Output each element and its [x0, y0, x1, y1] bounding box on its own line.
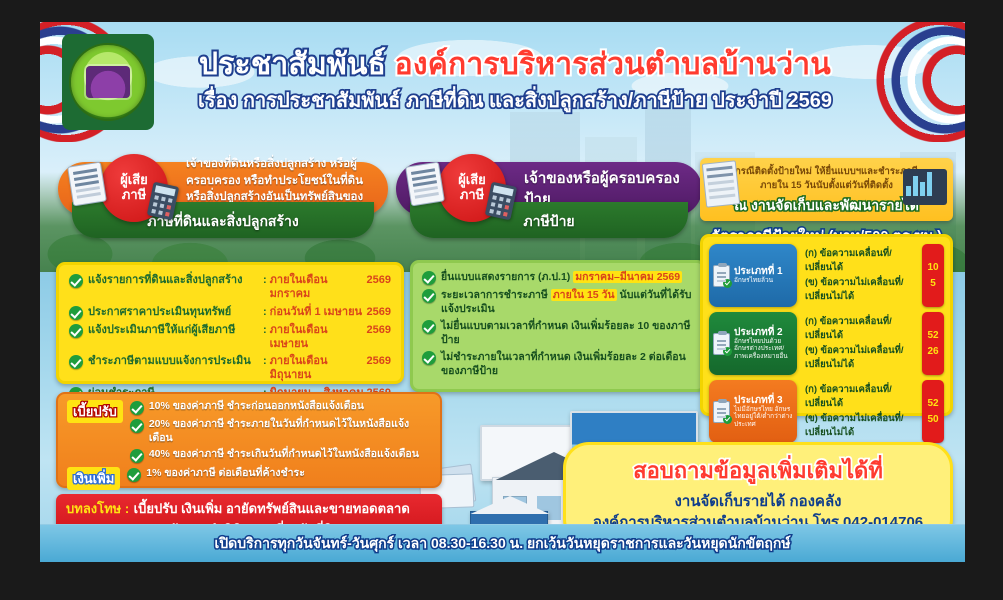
taxpayer-badge-line1: ผู้เสีย	[458, 173, 486, 188]
rate-category-sub: ไม่มีอักษรไทย อักษรไทยอยู่ใต้/ต่ำกว่าต่า…	[734, 406, 793, 428]
taxpayer-badge-line2: ภาษี	[122, 188, 146, 203]
rate-category-text: ประเภทที่ 3ไม่มีอักษรไทย อักษรไทยอยู่ใต้…	[734, 395, 793, 428]
rate-item-text: (ก) ข้อความเคลื่อนที่/เปลี่ยนได้	[805, 383, 913, 412]
check-icon	[69, 306, 83, 320]
page-title-white: ประชาสัมพันธ์	[199, 48, 395, 81]
fine-row-text: 40% ของค่าภาษี ชำระเกินวันที่กำหนดไว้ในห…	[149, 448, 419, 462]
rate-item-text: (ก) ข้อความเคลื่อนที่/เปลี่ยนได้	[805, 247, 913, 276]
schedule-separator: :	[263, 274, 267, 286]
check-icon	[69, 274, 83, 288]
new-sign-notice-body: กรณีติดตั้งป้ายใหม่ ให้ยื่นแบบฯและชำระภา…	[700, 158, 953, 221]
rate-item-text: (ข) ข้อความไม่เคลื่อนที่/เปลี่ยนไม่ได้	[805, 344, 913, 373]
fine-tag: เบี้ยปรับ	[67, 400, 123, 423]
schedule-year: 2569	[367, 324, 391, 336]
fine-row-text: 10% ของค่าภาษี ชำระก่อนออกหนังสือแจ้งเตื…	[149, 400, 364, 414]
rate-value: 26	[927, 344, 938, 360]
check-icon	[130, 449, 144, 463]
monitor-chart-icon	[903, 169, 947, 205]
check-icon	[130, 419, 144, 433]
rate-item-text: (ข) ข้อความไม่เคลื่อนที่/เปลี่ยนไม่ได้	[805, 412, 913, 441]
taxpayer-badge-line2: ภาษี	[460, 188, 484, 203]
rate-category-sub: อักษรไทยปนด้วยอักษรต่างประเทศ/ภาพเครื่อง…	[734, 338, 793, 360]
document-icon	[405, 162, 445, 207]
rate-category: ประเภทที่ 2อักษรไทยปนด้วยอักษรต่างประเทศ…	[709, 312, 797, 375]
schedule-label: ประกาศราคาประเมินทุนทรัพย์	[88, 305, 260, 319]
sign-detail-text: ไม่ชำระภายในเวลาที่กำหนด เงินเพิ่มร้อยละ…	[441, 350, 694, 378]
punishment-line-1: เบี้ยปรับ เงินเพิ่ม อายัดทรัพย์สินและขาย…	[134, 501, 410, 516]
sign-taxpayer-banner: ผู้เสีย ภาษี เจ้าของหรือผู้ครอบครองป้าย …	[396, 162, 702, 238]
fine-row: 40% ของค่าภาษี ชำระเกินวันที่กำหนดไว้ในห…	[130, 448, 431, 463]
land-schedule-card: แจ้งรายการที่ดินและสิ่งปลูกสร้าง:ภายในเด…	[56, 262, 404, 384]
schedule-year: 2569	[367, 355, 391, 367]
check-icon	[422, 271, 436, 285]
fine-row-text: 20% ของค่าภาษี ชำระภายในวันที่กำหนดไว้ใน…	[149, 418, 431, 445]
schedule-period: ภายในเดือน เมษายน	[270, 323, 367, 352]
sign-details-card: ยื่นแบบแสดงรายการ (ภ.ป.1) มกราคม–มีนาคม …	[410, 260, 706, 392]
rate-category-text: ประเภทที่ 2อักษรไทยปนด้วยอักษรต่างประเทศ…	[734, 327, 793, 360]
highlighted-term: มกราคม–มีนาคม 2569	[573, 271, 682, 283]
contact-heading: สอบถามข้อมูลเพิ่มเติมได้ที่	[576, 453, 940, 488]
poster-root: ประชาสัมพันธ์ องค์การบริหารส่วนตำบลบ้านว…	[40, 22, 965, 562]
check-badge-icon	[723, 347, 732, 356]
highlighted-term: ภายใน 15 วัน	[551, 289, 617, 301]
check-badge-icon	[723, 279, 732, 288]
schedule-period: ภายในเดือน มิถุนายน	[270, 354, 367, 383]
sign-detail-text: ไม่ยื่นแบบตามเวลาที่กำหนด เงินเพิ่มร้อยล…	[441, 319, 694, 347]
rate-value: 52	[927, 396, 938, 412]
schedule-separator: :	[263, 355, 267, 367]
service-hours-strip: เปิดบริการทุกวันจันทร์-วันศุกร์ เวลา 08.…	[40, 524, 965, 562]
rate-category-text: ประเภทที่ 1อักษรไทยล้วน	[734, 266, 783, 284]
rate-item-list: (ก) ข้อความเคลื่อนที่/เปลี่ยนได้(ข) ข้อค…	[797, 312, 917, 375]
land-schedule-row: ประกาศราคาประเมินทุนทรัพย์:ก่อนวันที่ 1 …	[69, 305, 391, 320]
schedule-label: แจ้งประเมินภาษีให้แก่ผู้เสียภาษี	[88, 323, 260, 337]
rate-value: 10	[927, 260, 938, 276]
sign-rate-table-card: ประเภทที่ 1อักษรไทยล้วน(ก) ข้อความเคลื่อ…	[700, 234, 953, 416]
schedule-year: 2569	[367, 274, 391, 286]
organization-emblem	[62, 34, 154, 130]
check-icon	[422, 351, 436, 365]
surcharge-row-text: 1% ของค่าภาษี ต่อเดือนที่ค้างชำระ	[146, 467, 305, 481]
schedule-separator: :	[263, 324, 267, 336]
rate-value-badge: 105	[922, 244, 944, 307]
rate-category: ประเภทที่ 1อักษรไทยล้วน	[709, 244, 797, 307]
contact-line-1: งานจัดเก็บรายได้ กองคลัง	[576, 492, 940, 512]
sign-detail-row: ระยะเวลาการชำระภาษี ภายใน 15 วัน นับแต่ว…	[422, 288, 694, 316]
penalty-card: เบี้ยปรับ 10% ของค่าภาษี ชำระก่อนออกหนัง…	[56, 392, 442, 488]
check-icon	[127, 468, 141, 482]
rate-category: ประเภทที่ 3ไม่มีอักษรไทย อักษรไทยอยู่ใต้…	[709, 380, 797, 443]
clipboard-icon	[713, 333, 730, 355]
check-badge-icon	[723, 415, 732, 424]
taxpayer-badge-line1: ผู้เสีย	[120, 173, 148, 188]
rate-item-text: (ก) ข้อความเคลื่อนที่/เปลี่ยนได้	[805, 315, 913, 344]
sign-detail-row: ไม่ยื่นแบบตามเวลาที่กำหนด เงินเพิ่มร้อยล…	[422, 319, 694, 347]
rate-row: ประเภทที่ 1อักษรไทยล้วน(ก) ข้อความเคลื่อ…	[709, 244, 944, 307]
rate-category-title: ประเภทที่ 2	[734, 327, 793, 338]
surcharge-list: 1% ของค่าภาษี ต่อเดือนที่ค้างชำระ	[127, 467, 431, 485]
sign-detail-row: ไม่ชำระภายในเวลาที่กำหนด เงินเพิ่มร้อยละ…	[422, 350, 694, 378]
schedule-label: แจ้งรายการที่ดินและสิ่งปลูกสร้าง	[88, 273, 260, 287]
rate-item-list: (ก) ข้อความเคลื่อนที่/เปลี่ยนได้(ข) ข้อค…	[797, 244, 917, 307]
check-icon	[422, 320, 436, 334]
sign-detail-row: ยื่นแบบแสดงรายการ (ภ.ป.1) มกราคม–มีนาคม …	[422, 270, 694, 285]
rate-value: 50	[927, 412, 938, 428]
rate-value: 5	[930, 276, 936, 292]
schedule-separator: :	[263, 306, 267, 318]
clipboard-icon	[713, 401, 730, 423]
sign-detail-text: ยื่นแบบแสดงรายการ (ภ.ป.1) มกราคม–มีนาคม …	[441, 270, 682, 284]
land-schedule-row: แจ้งประเมินภาษีให้แก่ผู้เสียภาษี:ภายในเด…	[69, 323, 391, 352]
sign-details-list: ยื่นแบบแสดงรายการ (ภ.ป.1) มกราคม–มีนาคม …	[422, 270, 694, 378]
sign-rate-rows: ประเภทที่ 1อักษรไทยล้วน(ก) ข้อความเคลื่อ…	[709, 244, 944, 443]
sign-detail-text: ระยะเวลาการชำระภาษี ภายใน 15 วัน นับแต่ว…	[441, 288, 694, 316]
check-icon	[422, 289, 436, 303]
page-title: ประชาสัมพันธ์ องค์การบริหารส่วนตำบลบ้านว…	[170, 48, 860, 81]
land-schedule-list: แจ้งรายการที่ดินและสิ่งปลูกสร้าง:ภายในเด…	[69, 273, 391, 401]
service-hours-text: เปิดบริการทุกวันจันทร์-วันศุกร์ เวลา 08.…	[214, 533, 790, 555]
emblem-disc	[69, 43, 147, 121]
emblem-inner-mark	[86, 66, 130, 98]
rate-category-title: ประเภทที่ 1	[734, 266, 783, 277]
document-icon	[67, 162, 107, 207]
rate-row: ประเภทที่ 3ไม่มีอักษรไทย อักษรไทยอยู่ใต้…	[709, 380, 944, 443]
land-taxpayer-banner: ผู้เสีย ภาษี เจ้าของที่ดินหรือสิ่งปลูกสร…	[58, 162, 388, 238]
check-icon	[130, 401, 144, 415]
schedule-label: ชำระภาษีตามแบบแจ้งการประเมิน	[88, 354, 260, 368]
schedule-period: ภายในเดือน มกราคม	[270, 273, 367, 302]
land-schedule-row: ชำระภาษีตามแบบแจ้งการประเมิน:ภายในเดือน …	[69, 354, 391, 383]
sign-tax-footer-label: ภาษีป้าย	[523, 211, 574, 233]
rate-category-sub: อักษรไทยล้วน	[734, 277, 783, 284]
fine-row: 10% ของค่าภาษี ชำระก่อนออกหนังสือแจ้งเตื…	[130, 400, 431, 415]
surcharge-tag: เงินเพิ่ม	[67, 467, 120, 490]
rate-row: ประเภทที่ 2อักษรไทยปนด้วยอักษรต่างประเทศ…	[709, 312, 944, 375]
check-icon	[69, 355, 83, 369]
schedule-period: ก่อนวันที่ 1 เมษายน	[270, 305, 367, 319]
fine-row: 20% ของค่าภาษี ชำระภายในวันที่กำหนดไว้ใน…	[130, 418, 431, 445]
clipboard-icon	[713, 265, 730, 287]
page-title-red: องค์การบริหารส่วนตำบลบ้านว่าน	[395, 48, 831, 81]
surcharge-row: 1% ของค่าภาษี ต่อเดือนที่ค้างชำระ	[127, 467, 431, 482]
check-icon	[69, 324, 83, 338]
rate-value-badge: 5250	[922, 380, 944, 443]
rate-value: 52	[927, 328, 938, 344]
form-pen-icon	[702, 160, 740, 207]
fine-list: 10% ของค่าภาษี ชำระก่อนออกหนังสือแจ้งเตื…	[130, 400, 431, 466]
land-schedule-row: แจ้งรายการที่ดินและสิ่งปลูกสร้าง:ภายในเด…	[69, 273, 391, 302]
punishment-tag: บทลงโทษ :	[66, 501, 129, 516]
rate-value-badge: 5226	[922, 312, 944, 375]
schedule-year: 2569	[367, 306, 391, 318]
page-subtitle: เรื่อง การประชาสัมพันธ์ ภาษีที่ดิน และสิ…	[170, 84, 860, 116]
rate-item-list: (ก) ข้อความเคลื่อนที่/เปลี่ยนได้(ข) ข้อค…	[797, 380, 917, 443]
rate-category-title: ประเภทที่ 3	[734, 395, 793, 406]
rate-item-text: (ข) ข้อความไม่เคลื่อนที่/เปลี่ยนไม่ได้	[805, 276, 913, 305]
